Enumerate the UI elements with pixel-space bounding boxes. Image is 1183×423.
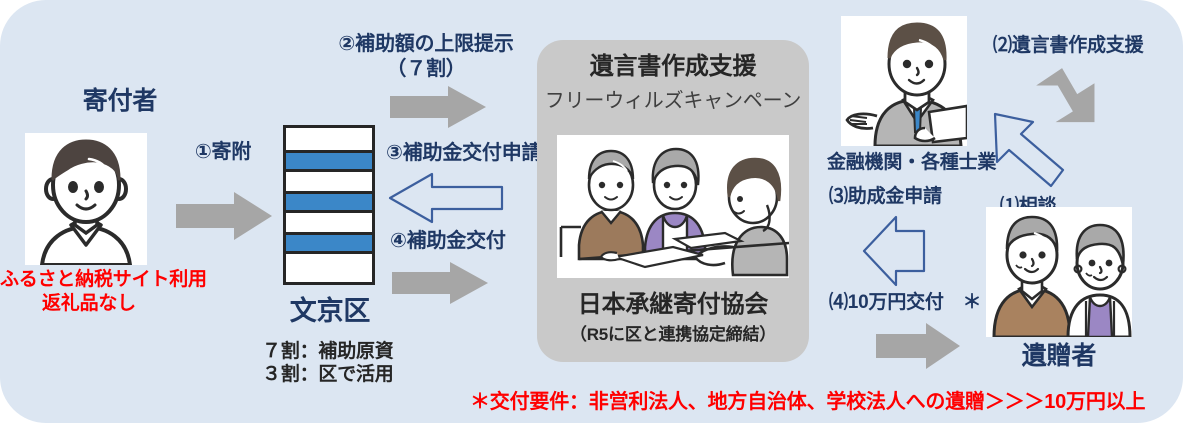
- flow-right-step2-label: ⑵遺言書作成支援: [993, 34, 1143, 57]
- donor-photo-frame: [25, 133, 147, 265]
- financial-advisor-illustration: [841, 16, 967, 146]
- flow-step1-label: ①寄附: [168, 140, 278, 164]
- footnote-text: ＊交付要件：非営利法人、地方自治体、学校法人への遺贈＞＞＞10万円以上: [470, 390, 1145, 414]
- flow-step3-label: ③補助金交付申請: [386, 141, 546, 165]
- flow-step2-label-line1: ②補助額の上限提示: [320, 32, 532, 56]
- arrow-right-donation-icon: [176, 192, 272, 240]
- diagram-canvas: 寄付者 ふるさと納税サイト利用 返礼品なし ①寄附: [0, 0, 1183, 423]
- bequeather-label: 遺贈者: [986, 341, 1132, 372]
- professional-label: 金融機関・各種士業: [827, 151, 996, 174]
- arrow-left-subsidy-application-icon: [388, 172, 504, 224]
- ward-note-line2: ３割：区で活用: [262, 363, 394, 386]
- bunkyo-ward-building-icon: [283, 125, 375, 285]
- flow-step4-label: ④補助金交付: [390, 229, 550, 253]
- flow-right-step3-label: ⑶助成金申請: [829, 185, 942, 208]
- donor-man-illustration: [25, 133, 147, 265]
- donor-note-line1: ふるさと納税サイト利用: [0, 268, 178, 291]
- arrow-right-cap-proposal-icon: [390, 86, 486, 128]
- arrow-left-grant-application-icon: [862, 215, 926, 287]
- association-campaign: フリーウィルズキャンペーン: [531, 89, 815, 113]
- arrow-right-grant-payment-icon: [876, 322, 960, 370]
- donor-label: 寄付者: [40, 86, 200, 117]
- consultation-meeting-illustration: [557, 135, 789, 278]
- bequeather-photo-frame: [986, 207, 1132, 337]
- arrow-right-subsidy-grant-icon: [392, 262, 488, 304]
- association-photo-frame: [557, 135, 789, 278]
- flow-right-step4-label: ⑷10万円交付 ＊: [829, 291, 981, 314]
- ward-note-line1: ７割：補助原資: [262, 340, 394, 363]
- association-name: 日本承継寄付協会: [537, 290, 809, 319]
- association-subnote: （R5に区と連携協定締結）: [537, 325, 809, 346]
- professional-photo-frame: [841, 16, 967, 146]
- flow-step2-label-line2: （７割）: [320, 57, 532, 81]
- elderly-couple-illustration: [986, 207, 1132, 337]
- ward-label: 文京区: [260, 295, 400, 328]
- donor-note-line2: 返礼品なし: [0, 292, 178, 315]
- association-heading: 遺言書作成支援: [537, 52, 809, 81]
- arrow-diagonal-up-left-consultation-icon: [989, 106, 1081, 198]
